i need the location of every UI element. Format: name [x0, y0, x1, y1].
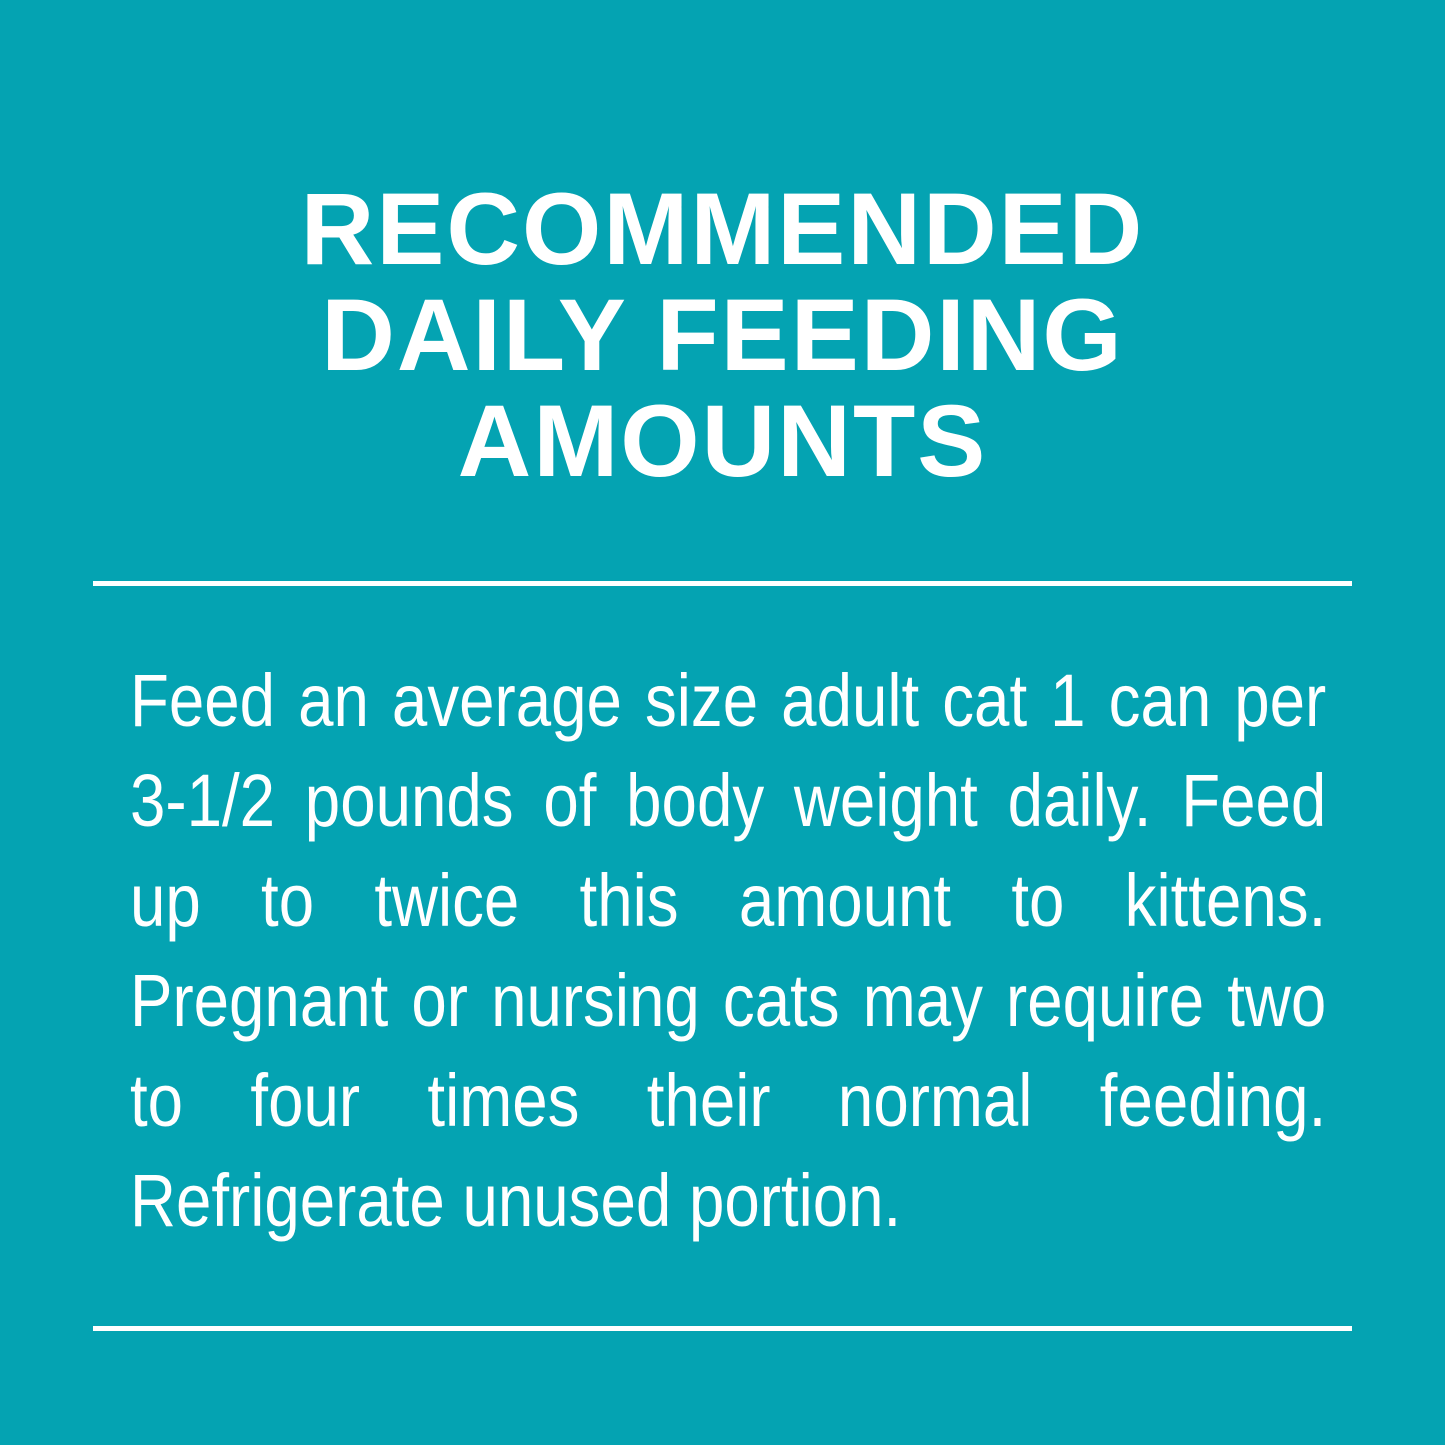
recommended-feeding-panel: RECOMMENDED DAILY FEEDING AMOUNTS Feed a…: [0, 0, 1445, 1445]
top-divider-rule: [93, 581, 1352, 586]
page-title-line-1: RECOMMENDED: [0, 176, 1445, 282]
page-title: RECOMMENDED DAILY FEEDING AMOUNTS: [0, 176, 1445, 494]
page-title-line-3: AMOUNTS: [0, 388, 1445, 494]
page-title-line-2: DAILY FEEDING: [0, 282, 1445, 388]
bottom-divider-rule: [93, 1326, 1352, 1331]
feeding-instructions-paragraph: Feed an average size adult cat 1 can per…: [130, 651, 1326, 1251]
feeding-instructions-text: Feed an average size adult cat 1 can per…: [130, 659, 1326, 1242]
